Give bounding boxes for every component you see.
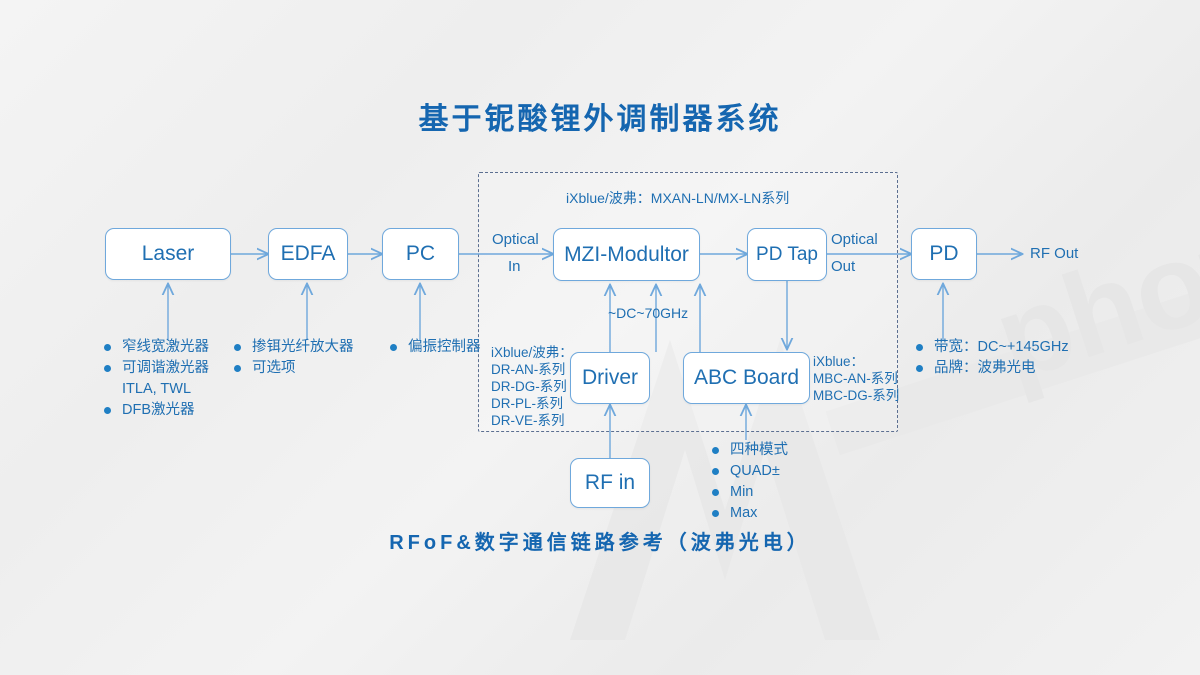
bullet-label: 品牌：波弗光电: [934, 359, 1036, 378]
block-pd[interactable]: PD: [911, 228, 977, 280]
bullet-dot-icon: [104, 365, 111, 372]
diagram-caption: RFoF&数字通信链路参考（波弗光电）: [0, 526, 1200, 555]
abc-spec-line-0: iXblue：: [813, 353, 899, 370]
driver-spec-line-0: iXblue/波弗：: [491, 344, 573, 361]
bullet-label: 带宽：DC~+145GHz: [934, 338, 1069, 357]
bullet-item: ITLA, TWL: [104, 380, 209, 399]
bullet-label: DFB激光器: [122, 401, 195, 420]
bullet-dot-icon: [712, 510, 719, 517]
block-rf-in[interactable]: RF in: [570, 458, 650, 508]
driver-spec-line-3: DR-PL-系列: [491, 395, 573, 412]
abc-spec-line-2: MBC-DG-系列: [813, 387, 899, 404]
bullet-label: 掺铒光纤放大器: [252, 338, 354, 357]
diagram-canvas: phot 基于铌酸锂外调制器系统 iXblue/波弗：MXAN-LN/MX-LN…: [0, 0, 1200, 675]
bullet-item: 偏振控制器: [390, 338, 481, 357]
label-rf-out: RF Out: [1030, 243, 1078, 264]
driver-spec-line-2: DR-DG-系列: [491, 378, 573, 395]
label-optical-in-line2: In: [508, 256, 521, 277]
block-pd-tap[interactable]: PD Tap: [747, 228, 827, 281]
bullet-dot-icon: [712, 489, 719, 496]
block-driver[interactable]: Driver: [570, 352, 650, 404]
bullet-item: 可调谐激光器: [104, 359, 209, 378]
abc-spec-label: iXblue： MBC-AN-系列 MBC-DG-系列: [813, 353, 899, 404]
bullet-dot-icon: [712, 468, 719, 475]
driver-spec-label: iXblue/波弗： DR-AN-系列 DR-DG-系列 DR-PL-系列 DR…: [491, 344, 573, 429]
bullet-item: 窄线宽激光器: [104, 338, 209, 357]
bullet-item: 可选项: [234, 359, 354, 378]
driver-spec-line-4: DR-VE-系列: [491, 412, 573, 429]
bullets-laser: 窄线宽激光器可调谐激光器ITLA, TWLDFB激光器: [104, 338, 209, 422]
block-edfa[interactable]: EDFA: [268, 228, 348, 280]
bullets-abc-board: 四种模式QUAD±MinMax: [712, 441, 788, 525]
bullets-edfa: 掺铒光纤放大器可选项: [234, 338, 354, 380]
bullet-label: QUAD±: [730, 462, 780, 481]
block-laser[interactable]: Laser: [105, 228, 231, 280]
bullet-label: 可选项: [252, 359, 296, 378]
label-bandwidth-note: ~DC~70GHz: [608, 305, 688, 322]
page-title: 基于铌酸锂外调制器系统: [0, 94, 1200, 138]
bullet-dot-icon: [234, 365, 241, 372]
bullet-label: 可调谐激光器: [122, 359, 209, 378]
group-label: iXblue/波弗：MXAN-LN/MX-LN系列: [566, 189, 789, 207]
label-optical-out-line1: Optical: [831, 229, 878, 250]
abc-spec-line-1: MBC-AN-系列: [813, 370, 899, 387]
block-pc[interactable]: PC: [382, 228, 459, 280]
label-optical-out-line2: Out: [831, 256, 855, 277]
bullet-item: Max: [712, 504, 788, 523]
bullet-item: 掺铒光纤放大器: [234, 338, 354, 357]
bullet-item: QUAD±: [712, 462, 788, 481]
bullet-label: 窄线宽激光器: [122, 338, 209, 357]
bullet-label: Max: [730, 504, 757, 523]
bullet-label: ITLA, TWL: [122, 380, 191, 399]
label-optical-in-line1: Optical: [492, 229, 539, 250]
bullet-item: DFB激光器: [104, 401, 209, 420]
bullet-dot-icon: [916, 365, 923, 372]
bullet-label: 四种模式: [730, 441, 788, 460]
driver-spec-line-1: DR-AN-系列: [491, 361, 573, 378]
bullet-item: 带宽：DC~+145GHz: [916, 338, 1069, 357]
bullet-item: Min: [712, 483, 788, 502]
block-abc-board[interactable]: ABC Board: [683, 352, 810, 404]
bullet-item: 品牌：波弗光电: [916, 359, 1069, 378]
bullet-label: Min: [730, 483, 753, 502]
bullets-pc: 偏振控制器: [390, 338, 481, 359]
bullet-dot-icon: [712, 447, 719, 454]
bullet-dot-icon: [104, 407, 111, 414]
bullet-label: 偏振控制器: [408, 338, 481, 357]
block-mzi-modulator[interactable]: MZI-Modultor: [553, 228, 700, 281]
bullet-dot-icon: [234, 344, 241, 351]
bullets-pd: 带宽：DC~+145GHz品牌：波弗光电: [916, 338, 1069, 380]
bullet-dot-icon: [916, 344, 923, 351]
bullet-dot-icon: [104, 344, 111, 351]
bullet-item: 四种模式: [712, 441, 788, 460]
bullet-dot-icon: [390, 344, 397, 351]
